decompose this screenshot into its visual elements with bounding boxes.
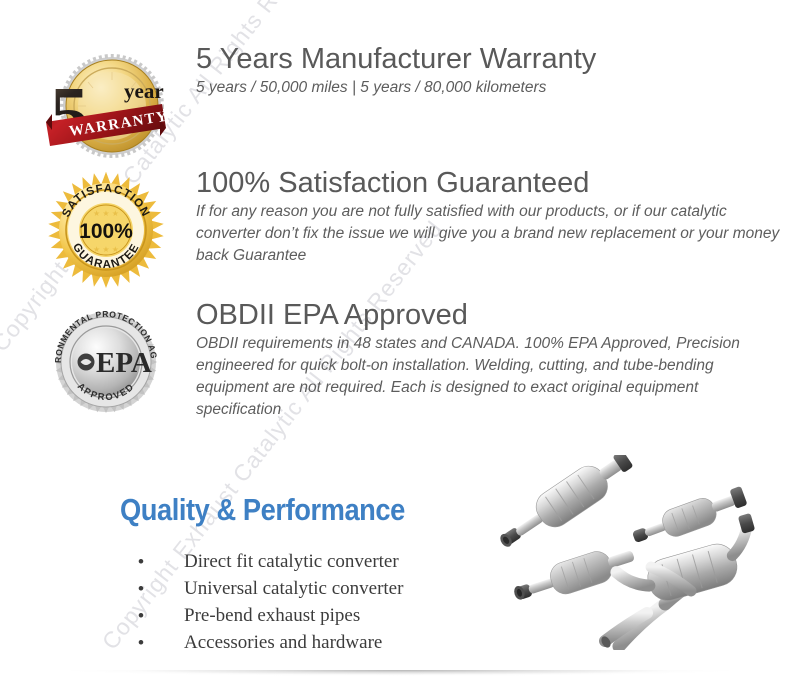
svg-text:★ ★ ★: ★ ★ ★ bbox=[93, 245, 119, 254]
feature-title: 5 Years Manufacturer Warranty bbox=[196, 44, 780, 75]
five-year-warranty-seal: year 5 WARRANTY bbox=[42, 44, 172, 174]
product-feature-page: Copyright Exhaust Catalytic All Rights R… bbox=[0, 0, 800, 700]
feature-description: If for any reason you are not fully sati… bbox=[196, 201, 780, 267]
svg-text:★ ★ ★: ★ ★ ★ bbox=[93, 209, 119, 218]
list-item: • Universal catalytic converter bbox=[138, 575, 403, 602]
epa-approved-seal: ENVIRONMENTAL PROTECTION AGENCY APPROVED… bbox=[42, 300, 172, 430]
feature-description: 5 years / 50,000 miles | 5 years / 80,00… bbox=[196, 77, 780, 99]
bullet-icon: • bbox=[138, 575, 144, 602]
bullet-icon: • bbox=[138, 602, 144, 629]
feature-title: 100% Satisfaction Guaranteed bbox=[196, 168, 780, 199]
list-item: • Pre-bend exhaust pipes bbox=[138, 602, 403, 629]
quality-feature-list: • Direct fit catalytic converter • Unive… bbox=[138, 548, 403, 657]
epa-logo-icon bbox=[78, 354, 95, 371]
list-item: • Accessories and hardware bbox=[138, 629, 403, 656]
satisfaction-guarantee-seal: SATISFACTION GUARANTEE 100% ★ ★ ★ ★ ★ ★ bbox=[42, 168, 172, 298]
feature-description: OBDII requirements in 48 states and CANA… bbox=[196, 333, 780, 421]
badge-center-label: 100% bbox=[79, 220, 133, 243]
bullet-icon: • bbox=[138, 629, 144, 656]
list-item-label: Direct fit catalytic converter bbox=[184, 551, 399, 572]
quality-performance-heading: Quality & Performance bbox=[120, 492, 405, 528]
badge-unit-label: year bbox=[124, 79, 164, 103]
list-item: • Direct fit catalytic converter bbox=[138, 548, 403, 575]
list-item-label: Universal catalytic converter bbox=[184, 578, 403, 599]
feature-text-block: 100% Satisfaction Guaranteed If for any … bbox=[196, 168, 780, 267]
list-item-label: Pre-bend exhaust pipes bbox=[184, 605, 360, 626]
catalytic-converters-photo bbox=[455, 455, 795, 650]
bottom-divider bbox=[60, 670, 740, 676]
feature-title: OBDII EPA Approved bbox=[196, 300, 780, 331]
feature-text-block: 5 Years Manufacturer Warranty 5 years / … bbox=[196, 44, 780, 99]
list-item-label: Accessories and hardware bbox=[184, 632, 382, 653]
badge-center-label: EPA bbox=[96, 347, 152, 379]
feature-text-block: OBDII EPA Approved OBDII requirements in… bbox=[196, 300, 780, 421]
bullet-icon: • bbox=[138, 548, 144, 575]
